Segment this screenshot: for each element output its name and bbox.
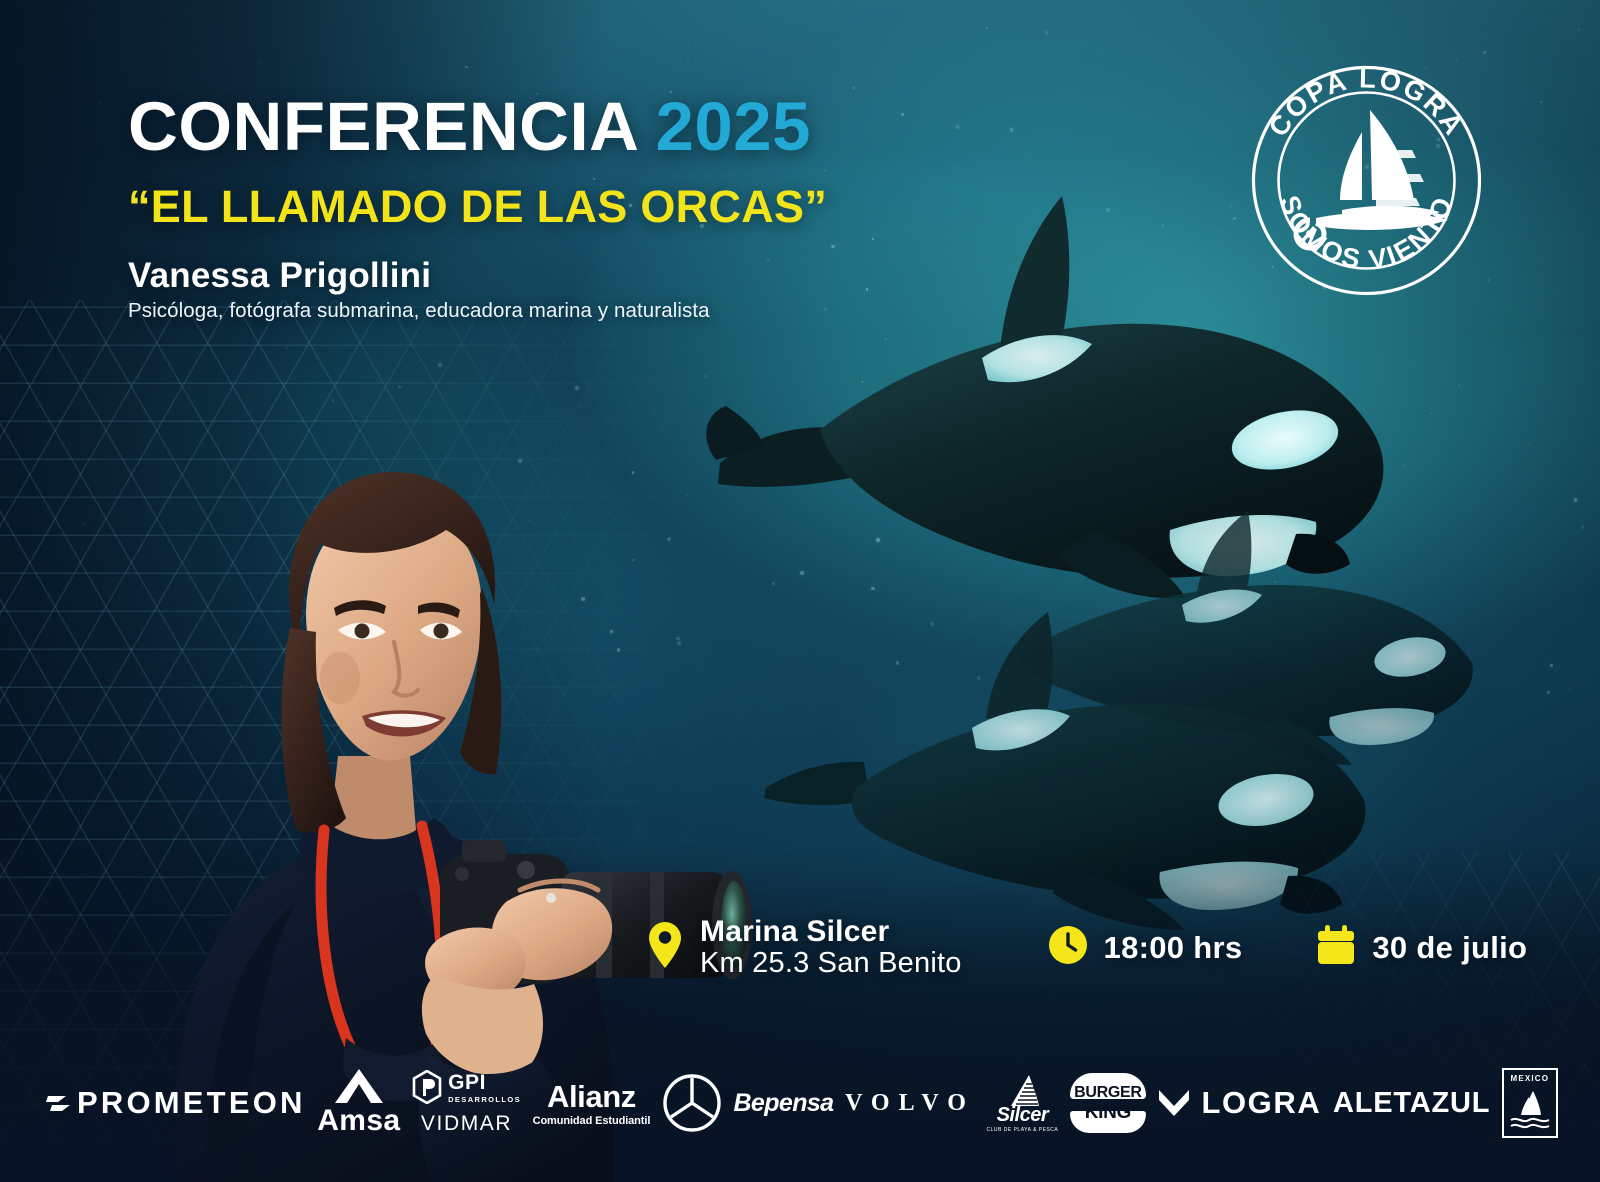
event-date: 30 de julio [1316, 924, 1527, 971]
gpi-hex-icon [412, 1070, 442, 1104]
speaker-name: Vanessa Prigollini [128, 256, 431, 296]
burger-bun-icon: BURGER KING [1070, 1069, 1146, 1137]
sponsor-name: Amsa [317, 1104, 400, 1138]
sponsor-name: VOLVO [845, 1090, 975, 1117]
event-venue: Marina Silcer Km 25.3 San Benito [648, 916, 962, 980]
sponsor-name: Bepensa [733, 1089, 833, 1118]
calendar-icon [1316, 924, 1356, 971]
sponsor-prometeon: PROMETEON [46, 1085, 306, 1121]
venue-line2: Km 25.3 San Benito [700, 948, 962, 980]
amsa-peak-icon [333, 1068, 385, 1104]
event-info-bar: Marina Silcer Km 25.3 San Benito 18:00 h… [648, 916, 1527, 980]
speaker-role: Psicóloga, fotógrafa submarina, educador… [128, 299, 710, 323]
location-pin-icon [648, 921, 682, 974]
sponsor-vidmar: VIDMAR [421, 1112, 512, 1136]
sponsor-aletazul: ALETAZUL [1333, 1087, 1490, 1120]
sponsor-name: PROMETEON [77, 1085, 306, 1121]
sponsor-name: MEXICO [1510, 1074, 1549, 1083]
sponsor-bepensa: Bepensa [733, 1089, 833, 1118]
sponsor-name: BURGER [1074, 1084, 1142, 1102]
badge-top-text: COPA LOGRA [1263, 63, 1470, 142]
sponsor-sub: DESARROLLOS [448, 1095, 521, 1104]
copa-logra-badge: COPA LOGRA SOMOS VIENTO [1244, 58, 1489, 303]
sponsor-name: Silcer [997, 1104, 1048, 1127]
sponsor-logra: LOGRA [1157, 1085, 1321, 1121]
badge-bottom-text: SOMOS VIENTO [1274, 191, 1459, 274]
headline: CONFERENCIA2025 [128, 92, 811, 161]
sponsor-alianz: Alianz Comunidad Estudiantil [533, 1079, 651, 1127]
time-value: 18:00 hrs [1104, 930, 1243, 966]
clock-icon [1048, 925, 1088, 970]
sponsor-strip: PROMETEON Amsa GPI [0, 1032, 1600, 1182]
event-time: 18:00 hrs [1048, 925, 1243, 970]
sponsor-mexico-sailing: MEXICO [1502, 1068, 1558, 1138]
sponsor-name: Alianz [547, 1079, 636, 1115]
sponsor-name: ALETAZUL [1333, 1087, 1490, 1120]
sponsor-burger-king: BURGER KING [1070, 1069, 1146, 1137]
silcer-sail-icon [999, 1074, 1045, 1108]
sponsor-sub: Comunidad Estudiantil [533, 1115, 651, 1127]
sponsor-volvo: VOLVO [845, 1090, 975, 1117]
prometeon-arrow-icon [46, 1088, 77, 1118]
conference-poster: CONFERENCIA2025 “EL LLAMADO DE LAS ORCAS… [0, 0, 1600, 1182]
date-value: 30 de julio [1372, 930, 1527, 966]
venue-line1: Marina Silcer [700, 916, 962, 948]
sponsor-amsa: Amsa [317, 1068, 400, 1138]
sponsor-name-2: KING [1085, 1102, 1131, 1124]
sponsor-mercedes-benz [662, 1073, 722, 1133]
logra-chevron-icon [1157, 1086, 1191, 1120]
poster-title: “EL LLAMADO DE LAS ORCAS” [128, 184, 827, 229]
sponsor-silcer: Silcer CLUB DE PLAYA & PESCA [987, 1074, 1059, 1133]
sponsor-sub: CLUB DE PLAYA & PESCA [987, 1127, 1059, 1133]
mercedes-star-icon [662, 1073, 722, 1133]
mexico-sail-badge-icon: MEXICO [1502, 1068, 1558, 1138]
sponsor-name: LOGRA [1201, 1085, 1321, 1121]
headline-year: 2025 [656, 88, 812, 165]
sponsor-name: GPI [448, 1071, 486, 1095]
headline-main: CONFERENCIA [128, 88, 640, 165]
sponsor-gpi-vidmar: GPI DESARROLLOS VIDMAR [412, 1070, 521, 1136]
